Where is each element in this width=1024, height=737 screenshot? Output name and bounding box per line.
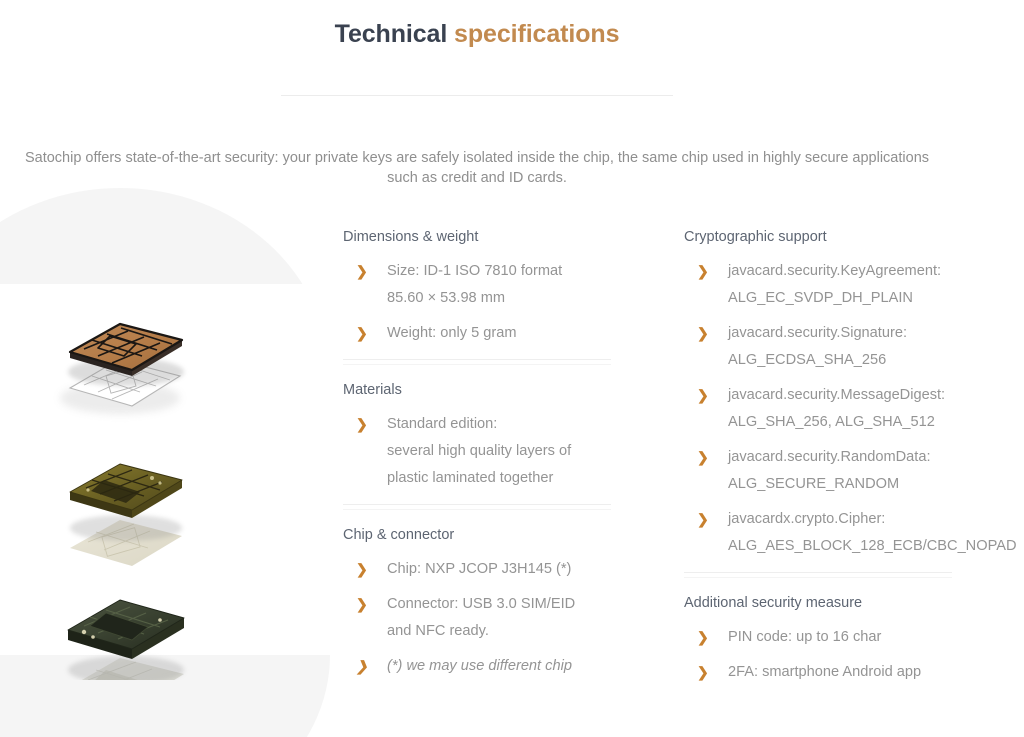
chevron-right-icon: ❯ [356, 411, 368, 438]
chevron-right-icon: ❯ [356, 591, 368, 618]
spec-section-chip-connector: Chip & connector❯Chip: NXP JCOP J3H145 (… [343, 526, 611, 680]
spec-list-item: ❯(*) we may use different chip [343, 653, 611, 680]
section-title-dimensions-weight: Dimensions & weight [343, 228, 611, 246]
chevron-right-icon: ❯ [697, 506, 709, 533]
spec-list-item: ❯javacard.security.MessageDigest:ALG_SHA… [684, 382, 1014, 436]
intro-paragraph: Satochip offers state-of-the-art securit… [12, 148, 942, 188]
silicon-die-layer [68, 600, 184, 680]
section-title-materials: Materials [343, 381, 611, 399]
section-title-chip-connector: Chip & connector [343, 526, 611, 544]
page-title-primary: Technical [335, 20, 454, 48]
chevron-right-icon: ❯ [697, 659, 709, 686]
spec-item-line-2: several high quality layers of [387, 438, 611, 465]
spec-item-line-3: plastic laminated together [387, 465, 611, 492]
chevron-right-icon: ❯ [697, 320, 709, 347]
spec-item-line-1: javacard.security.KeyAgreement: [728, 263, 941, 279]
spec-list-item: ❯javacard.security.KeyAgreement:ALG_EC_S… [684, 258, 1014, 312]
spec-item-line-2: ALG_EC_SVDP_DH_PLAIN [728, 285, 1014, 312]
specs-column-right: Cryptographic support❯javacard.security.… [684, 228, 1014, 694]
spec-list-item: ❯Connector: USB 3.0 SIM/EIDand NFC ready… [343, 591, 611, 645]
spec-item-line-1: javacardx.crypto.Cipher: [728, 511, 885, 527]
chevron-right-icon: ❯ [697, 382, 709, 409]
spec-list-item: ❯Weight: only 5 gram [343, 320, 611, 347]
spec-list-chip-connector: ❯Chip: NXP JCOP J3H145 (*)❯Connector: US… [343, 556, 611, 680]
spec-list-item: ❯Chip: NXP JCOP J3H145 (*) [343, 556, 611, 583]
spec-list-additional-security-measure: ❯PIN code: up to 16 char❯2FA: smartphone… [684, 624, 1014, 686]
spec-list-item: ❯javacardx.crypto.Cipher:ALG_AES_BLOCK_1… [684, 506, 1014, 560]
spec-item-line-1: Connector: USB 3.0 SIM/EID [387, 596, 575, 612]
spec-item-line-2: and NFC ready. [387, 618, 611, 645]
spec-list-item: ❯PIN code: up to 16 char [684, 624, 1014, 651]
spec-list-item: ❯Size: ID-1 ISO 7810 format85.60 × 53.98… [343, 258, 611, 312]
spec-section-additional-security-measure: Additional security measure❯PIN code: up… [684, 594, 1014, 686]
spec-item-line-2: ALG_AES_BLOCK_128_ECB/CBC_NOPAD [728, 533, 1014, 560]
technical-specifications-page: Technical specifications Satochip offers… [0, 0, 1024, 737]
spec-list-item: ❯Standard edition:several high quality l… [343, 411, 611, 492]
spec-item-line-2: ALG_ECDSA_SHA_256 [728, 347, 1014, 374]
spec-section-cryptographic-support: Cryptographic support❯javacard.security.… [684, 228, 1014, 560]
section-title-additional-security-measure: Additional security measure [684, 594, 1014, 612]
section-separator [343, 504, 611, 510]
chevron-right-icon: ❯ [697, 624, 709, 651]
spec-list-item: ❯javacard.security.Signature:ALG_ECDSA_S… [684, 320, 1014, 374]
spec-item-line-1: PIN code: up to 16 char [728, 629, 881, 645]
page-title: Technical specifications [0, 20, 954, 49]
spec-item-line-2: ALG_SECURE_RANDOM [728, 471, 1014, 498]
spec-item-line-1: Standard edition: [387, 416, 497, 432]
spec-item-line-1: 2FA: smartphone Android app [728, 664, 921, 680]
chevron-right-icon: ❯ [697, 258, 709, 285]
chevron-right-icon: ❯ [356, 258, 368, 285]
title-divider [281, 95, 673, 96]
spec-list-item: ❯2FA: smartphone Android app [684, 659, 1014, 686]
chevron-right-icon: ❯ [697, 444, 709, 471]
chevron-right-icon: ❯ [356, 556, 368, 583]
spec-item-line-1: Size: ID-1 ISO 7810 format [387, 263, 562, 279]
spec-list-cryptographic-support: ❯javacard.security.KeyAgreement:ALG_EC_S… [684, 258, 1014, 560]
section-separator [343, 359, 611, 365]
chevron-right-icon: ❯ [356, 653, 368, 680]
page-title-accent: specifications [454, 20, 619, 48]
spec-item-line-1: Chip: NXP JCOP J3H145 (*) [387, 561, 571, 577]
spec-item-line-1: javacard.security.RandomData: [728, 449, 931, 465]
spec-item-line-1: javacard.security.MessageDigest: [728, 387, 945, 403]
spec-list-materials: ❯Standard edition:several high quality l… [343, 411, 611, 492]
spec-list-item: ❯javacard.security.RandomData:ALG_SECURE… [684, 444, 1014, 498]
spec-section-dimensions-weight: Dimensions & weight❯Size: ID-1 ISO 7810 … [343, 228, 611, 347]
section-title-cryptographic-support: Cryptographic support [684, 228, 1014, 246]
exploded-smartcard-chip-illustration [0, 280, 300, 680]
spec-item-line-1: (*) we may use different chip [387, 658, 572, 674]
spec-item-line-2: ALG_SHA_256, ALG_SHA_512 [728, 409, 1014, 436]
contact-pad-layer [68, 324, 184, 386]
spec-section-materials: Materials❯Standard edition:several high … [343, 381, 611, 492]
spec-item-line-2: 85.60 × 53.98 mm [387, 285, 611, 312]
specs-column-middle: Dimensions & weight❯Size: ID-1 ISO 7810 … [343, 228, 611, 688]
spec-item-line-1: Weight: only 5 gram [387, 325, 517, 341]
spec-item-line-1: javacard.security.Signature: [728, 325, 907, 341]
chevron-right-icon: ❯ [356, 320, 368, 347]
section-separator [684, 572, 952, 578]
pcb-substrate-layer [70, 464, 182, 541]
spec-list-dimensions-weight: ❯Size: ID-1 ISO 7810 format85.60 × 53.98… [343, 258, 611, 347]
